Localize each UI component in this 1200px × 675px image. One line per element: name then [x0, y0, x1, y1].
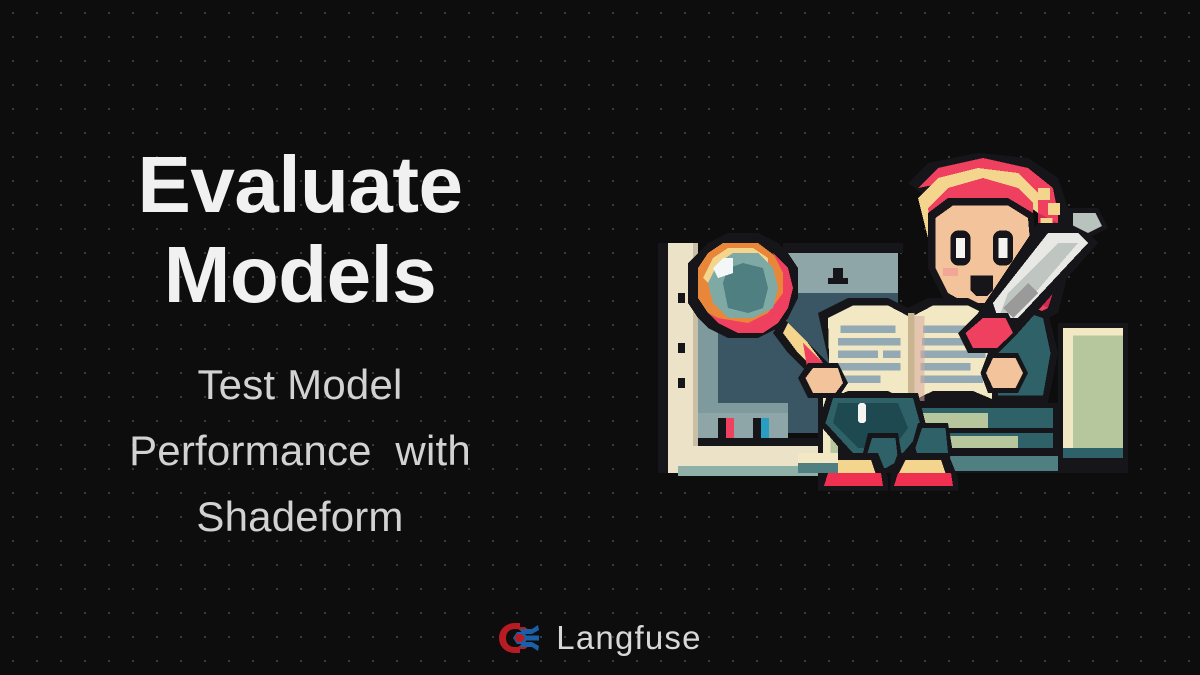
langfuse-logo-icon — [498, 621, 540, 655]
brand-name: Langfuse — [556, 621, 701, 654]
brand-lockup: Langfuse — [0, 600, 1200, 675]
slide-canvas: Evaluate Models Test Model Performance w… — [0, 0, 1200, 675]
hero-text-block: Evaluate Models Test Model Performance w… — [0, 0, 600, 600]
pixel-art-scholar-icon — [618, 143, 1158, 493]
page-title: Evaluate Models — [85, 140, 515, 320]
pixel-art-svg — [618, 143, 1158, 493]
page-subtitle: Test Model Performance with Shadeform — [90, 352, 510, 550]
